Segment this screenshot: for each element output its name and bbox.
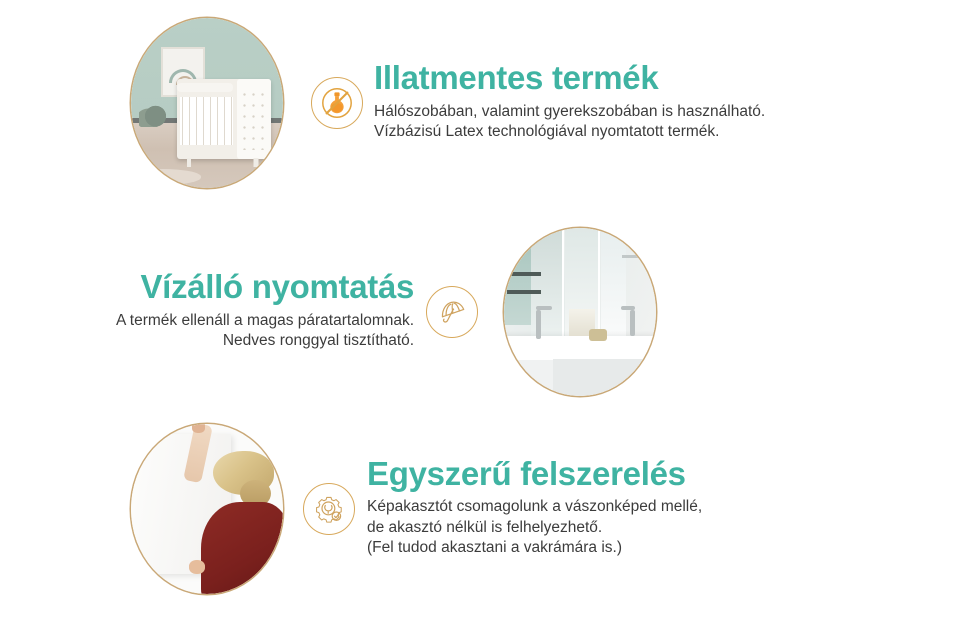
torso (201, 502, 283, 594)
hanging-canvas-scene (131, 424, 283, 594)
hand-lower (189, 560, 206, 574)
amenity-jar (589, 329, 607, 341)
feature-text-vizallo-nyomtatas: Vízálló nyomtatás A termék ellenáll a ma… (116, 270, 414, 354)
feature-body-line: A termék ellenáll a magas páratartalomna… (116, 311, 414, 332)
crib-rail (177, 83, 234, 92)
crib-panel (237, 79, 271, 159)
feature-heading: Vízálló nyomtatás (116, 270, 414, 304)
feature-row-vizallo-nyomtatas: Vízálló nyomtatás A termék ellenáll a ma… (0, 228, 960, 396)
mirror-panel (601, 228, 625, 339)
counter-front (553, 359, 656, 396)
feature-row-illatmentes-termek: Illatmentes termék Hálószobában, valamin… (0, 18, 960, 188)
no-fragrance-icon (311, 77, 363, 129)
feature-body-line: Képakasztót csomagolunk a vászonképed me… (367, 497, 702, 518)
plant (139, 100, 172, 127)
feature-body-line: Hálószobában, valamint gyerekszobában is… (374, 102, 765, 123)
nursery-scene (131, 18, 283, 188)
woman-hanging-canvas-photo (131, 424, 283, 594)
feature-text-egyszeru-felszereles: Egyszerű felszerelés Képakasztót csomago… (367, 457, 702, 561)
feature-heading: Illatmentes termék (374, 61, 765, 95)
wall-tap (622, 255, 638, 258)
feature-row-egyszeru-felszereles: Egyszerű felszerelés Képakasztót csomago… (0, 424, 960, 594)
baby-crib (177, 79, 271, 159)
nursery-room-photo (131, 18, 283, 188)
faucet (630, 310, 635, 335)
shelf (507, 272, 540, 276)
bathroom-scene (504, 228, 656, 396)
feature-body-line: (Fel tudod akasztani a vakrámára is.) (367, 538, 702, 559)
faucet (536, 310, 541, 339)
feature-body-line: de akasztó nélkül is felhelyezhető. (367, 518, 702, 539)
feature-highlights-page: Illatmentes termék Hálószobában, valamin… (0, 0, 960, 640)
hand-top (192, 424, 206, 433)
gear-wrench-check-icon (303, 483, 355, 535)
feature-body-line: Nedves ronggyal tisztítható. (116, 331, 414, 352)
crib-legs (182, 158, 265, 167)
feature-text-illatmentes-termek: Illatmentes termék Hálószobában, valamin… (374, 61, 765, 145)
feature-heading: Egyszerű felszerelés (367, 457, 702, 491)
crib-bars (180, 97, 233, 145)
bathroom-photo (504, 228, 656, 396)
feature-body-line: Vízbázisú Latex technológiával nyomtatot… (374, 122, 765, 143)
rug (131, 169, 201, 184)
umbrella-icon (426, 286, 478, 338)
shelf (507, 290, 540, 294)
